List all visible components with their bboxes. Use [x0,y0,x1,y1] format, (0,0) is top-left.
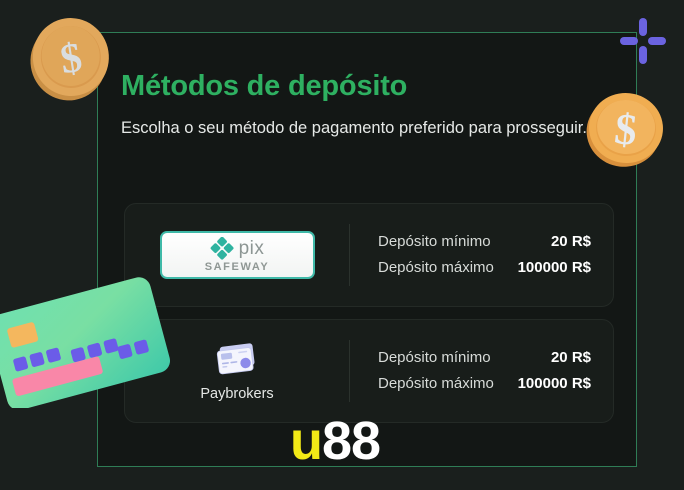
paybrokers-logo: Paybrokers [200,340,273,402]
limit-line: Depósito máximo 100000 R$ [378,371,591,397]
watermark-88: 88 [322,411,380,471]
pix-logo-plate: pix SAFEWAY [160,231,315,279]
method-logo-cell: Paybrokers [125,340,349,402]
limit-line: Depósito mínimo 20 R$ [378,345,591,371]
payment-method-row-pix[interactable]: pix SAFEWAY Depósito mínimo 20 R$ Depósi… [124,203,614,307]
pix-logo-top: pix [210,238,265,260]
paybrokers-label: Paybrokers [200,386,273,402]
limit-line: Depósito mínimo 20 R$ [378,229,591,255]
brand-watermark: u88 [290,414,380,468]
watermark-u: u [290,411,322,471]
limit-label: Depósito mínimo [378,229,491,255]
pix-safeway-label: SAFEWAY [205,261,270,273]
method-limits-pix: Depósito mínimo 20 R$ Depósito máximo 10… [350,229,613,281]
limit-value: 20 R$ [551,345,591,371]
limit-value: 100000 R$ [518,255,591,281]
pix-diamond-icon [210,237,234,260]
screenshot-root: Métodos de depósito Escolha o seu método… [0,0,684,490]
limit-label: Depósito máximo [378,371,494,397]
limit-label: Depósito máximo [378,255,494,281]
pix-wordmark: pix [239,239,265,258]
method-limits-paybrokers: Depósito mínimo 20 R$ Depósito máximo 10… [350,345,613,397]
method-logo-cell: pix SAFEWAY [125,231,349,279]
page-subtitle: Escolha o seu método de pagamento prefer… [121,115,591,142]
svg-text:$: $ [57,35,85,84]
payment-methods-list: pix SAFEWAY Depósito mínimo 20 R$ Depósi… [124,203,614,435]
payment-method-row-paybrokers[interactable]: Paybrokers Depósito mínimo 20 R$ Depósit… [124,319,614,423]
limit-label: Depósito mínimo [378,345,491,371]
deposit-methods-panel: Métodos de depósito Escolha o seu método… [97,32,637,467]
limit-value: 100000 R$ [518,371,591,397]
credit-card-icon [214,340,260,378]
limit-line: Depósito máximo 100000 R$ [378,255,591,281]
limit-value: 20 R$ [551,229,591,255]
page-title: Métodos de depósito [121,70,407,103]
